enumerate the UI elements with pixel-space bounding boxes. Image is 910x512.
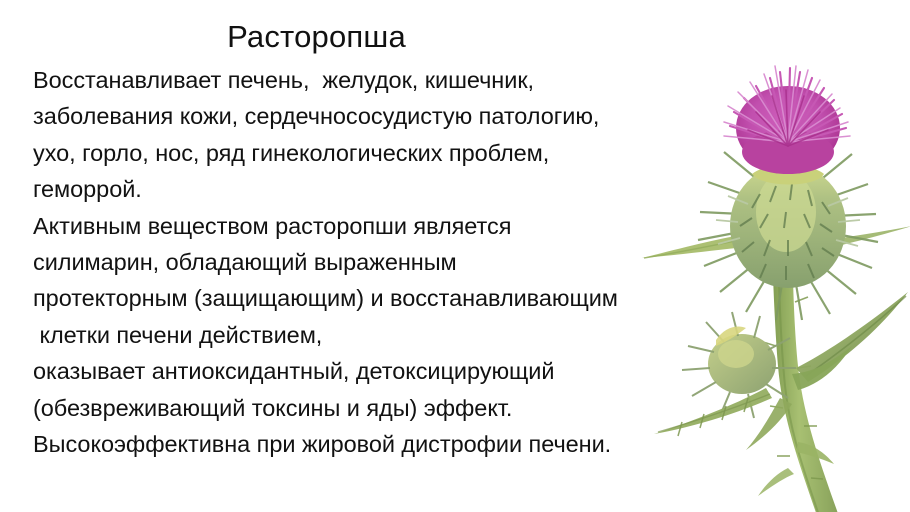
body-text-block: Восстанавливает печень, желудок, кишечни… <box>33 62 693 462</box>
body-line: (обезвреживающий токсины и яды) эффект. <box>33 390 693 426</box>
flower-head-florets <box>724 66 850 174</box>
slide-canvas: Расторопша Восстанавливает печень, желуд… <box>0 0 910 512</box>
body-line: заболевания кожи, сердечнососудистую пат… <box>33 98 693 134</box>
secondary-bud <box>682 312 796 418</box>
body-line: Восстанавливает печень, желудок, кишечни… <box>33 62 693 98</box>
upper-right-leaf <box>798 226 910 254</box>
body-line: протекторным (защищающим) и восстанавлив… <box>33 280 693 316</box>
body-line: оказывает антиоксидантный, детоксицирующ… <box>33 353 693 389</box>
floret-collar <box>752 165 824 185</box>
page-title: Расторопша <box>0 19 633 55</box>
body-line: Активным веществом расторопши является <box>33 208 693 244</box>
main-stem <box>758 176 843 512</box>
body-line: Высокоэффективна при жировой дистрофии п… <box>33 426 693 462</box>
body-line: клетки печени действием, <box>33 317 693 353</box>
spiny-involucre-bract <box>698 120 878 320</box>
body-line: ухо, горло, нос, ряд гинекологических пр… <box>33 135 693 171</box>
body-line: силимарин, обладающий выраженным <box>33 244 693 280</box>
body-line: геморрой. <box>33 171 693 207</box>
